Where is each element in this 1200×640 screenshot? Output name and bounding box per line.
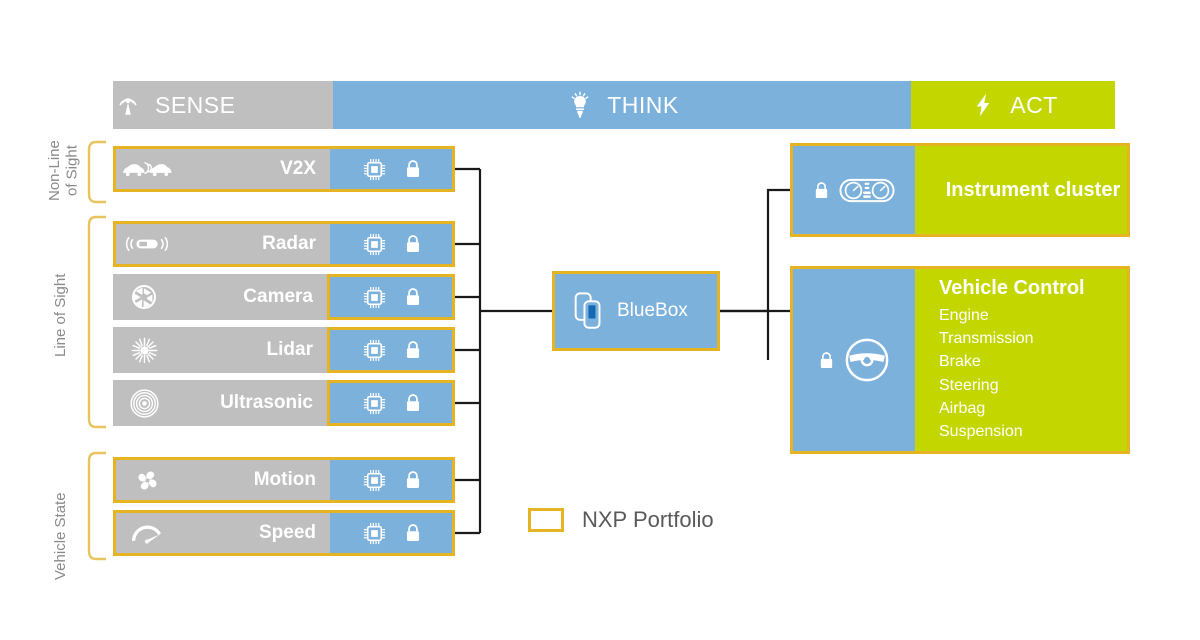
legend-swatch-nxp-portfolio	[528, 508, 564, 532]
sensor-row-body: Radar	[116, 224, 330, 264]
lock-icon	[405, 470, 421, 490]
processor-chip-icon	[362, 468, 387, 493]
sensor-name: Lidar	[167, 339, 327, 361]
header-segment-sense: SENSE	[113, 81, 333, 129]
sensor-name: V2X	[170, 158, 330, 180]
bluebox-node[interactable]: BlueBox	[552, 271, 720, 351]
list-item: Transmission	[939, 327, 1127, 350]
actuator-icon-panel	[793, 269, 915, 451]
sensor-name: Radar	[170, 233, 330, 255]
list-item: Steering	[939, 374, 1127, 397]
processor-chip-icon	[362, 285, 387, 310]
sensor-name: Camera	[167, 286, 327, 308]
sensor-chip-panel	[330, 513, 452, 553]
sensor-name: Speed	[170, 522, 330, 544]
actuator-title: Instrument cluster	[946, 179, 1120, 202]
sensor-row-radar[interactable]: Radar	[113, 221, 455, 267]
steering-wheel-icon	[844, 337, 890, 383]
list-item: Engine	[939, 304, 1127, 327]
group-brace-non-line-of-sight	[86, 141, 108, 203]
list-item: Brake	[939, 350, 1127, 373]
sensor-row-body: V2X	[116, 149, 330, 189]
sensor-row-body: Speed	[116, 513, 330, 553]
header-label-think: THINK	[607, 92, 679, 119]
brain-idea-icon	[565, 90, 595, 120]
list-item: Airbag	[939, 397, 1127, 420]
lightning-bolt-icon	[968, 90, 998, 120]
list-item: Suspension	[939, 420, 1127, 443]
ultrasonic-rings-icon	[121, 389, 167, 418]
gauge-cluster-icon	[839, 176, 895, 205]
actuator-body: Instrument cluster	[915, 146, 1127, 234]
lock-icon	[405, 393, 421, 413]
lock-icon	[405, 234, 421, 254]
sensor-name: Motion	[170, 469, 330, 491]
lock-icon	[814, 181, 829, 200]
sensor-row-speed[interactable]: Speed	[113, 510, 455, 556]
header-label-sense: SENSE	[155, 92, 235, 119]
sensor-row-body: Lidar	[113, 327, 327, 373]
sensor-chip-panel	[330, 460, 452, 500]
group-brace-vehicle-state	[86, 452, 108, 560]
legend: NXP Portfolio	[528, 507, 714, 533]
sensor-chip-panel	[330, 149, 452, 189]
processor-chip-icon	[362, 391, 387, 416]
sensor-row-v2x[interactable]: V2X	[113, 146, 455, 192]
car-to-car-icon	[124, 159, 170, 179]
header-label-act: ACT	[1010, 92, 1058, 119]
bluebox-label: BlueBox	[617, 300, 688, 322]
processor-chip-icon	[362, 338, 387, 363]
motion-fan-icon	[124, 466, 170, 495]
lock-icon	[405, 159, 421, 179]
processor-chip-icon	[362, 157, 387, 182]
sensor-row-body: Camera	[113, 274, 327, 320]
sensor-row-body: Motion	[116, 460, 330, 500]
sensor-row-camera[interactable]: Camera	[113, 274, 455, 320]
sensor-chip-panel	[327, 274, 455, 320]
sensor-chip-panel	[327, 327, 455, 373]
header-segment-act: ACT	[911, 81, 1115, 129]
actuator-icon-panel	[793, 146, 915, 234]
group-label-vehicle-state: Vehicle State	[52, 466, 74, 606]
sensor-row-motion[interactable]: Motion	[113, 457, 455, 503]
processor-chip-icon	[362, 521, 387, 546]
sensor-chip-panel	[330, 224, 452, 264]
lidar-burst-icon	[121, 336, 167, 365]
group-brace-line-of-sight	[86, 216, 108, 428]
lock-icon	[405, 287, 421, 307]
group-label-line-of-sight: Line of Sight	[52, 245, 74, 385]
stacked-modules-icon	[573, 291, 603, 331]
actuator-item-list: Engine Transmission Brake Steering Airba…	[939, 304, 1127, 442]
camera-shutter-icon	[121, 283, 167, 311]
speedometer-icon	[124, 522, 170, 544]
header-segment-think: THINK	[333, 81, 911, 129]
sensor-name: Ultrasonic	[167, 392, 327, 414]
diagram-canvas: SENSE THINK ACT Non-Line of Sight	[0, 0, 1200, 640]
sensor-row-body: Ultrasonic	[113, 380, 327, 426]
actuator-title: Vehicle Control	[939, 277, 1127, 300]
group-label-non-line-of-sight: Non-Line of Sight	[46, 140, 80, 202]
legend-label: NXP Portfolio	[582, 507, 714, 533]
sensor-row-lidar[interactable]: Lidar	[113, 327, 455, 373]
antenna-icon	[113, 90, 143, 120]
actuator-instrument-cluster[interactable]: Instrument cluster	[790, 143, 1130, 237]
lock-icon	[405, 340, 421, 360]
actuator-body: Vehicle Control Engine Transmission Brak…	[915, 269, 1127, 451]
actuator-vehicle-control[interactable]: Vehicle Control Engine Transmission Brak…	[790, 266, 1130, 454]
lock-icon	[819, 351, 834, 370]
lock-icon	[405, 523, 421, 543]
radar-car-icon	[124, 234, 170, 254]
sensor-row-ultrasonic[interactable]: Ultrasonic	[113, 380, 455, 426]
processor-chip-icon	[362, 232, 387, 257]
sensor-chip-panel	[327, 380, 455, 426]
